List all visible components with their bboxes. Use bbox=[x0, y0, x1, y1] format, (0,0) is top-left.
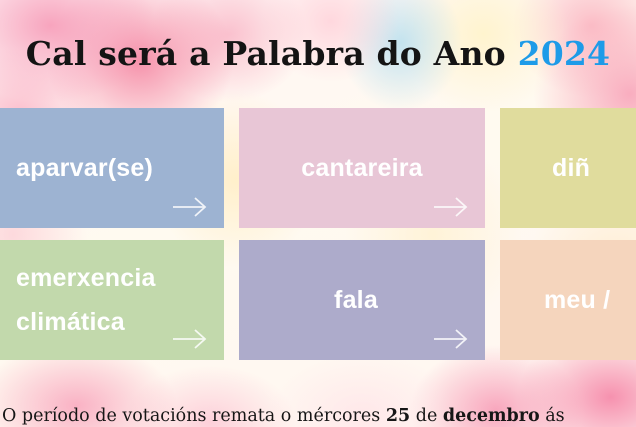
voting-deadline-part2: de bbox=[410, 406, 443, 426]
page-title-text: Cal será a Palabra do Ano bbox=[26, 34, 518, 73]
voting-deadline-part1: O período de votacións remata o mércores bbox=[2, 406, 386, 426]
arrow-right-icon bbox=[170, 326, 210, 352]
word-card-cantareira[interactable]: cantareira bbox=[239, 108, 485, 228]
voting-deadline-month: decembro bbox=[443, 406, 540, 426]
arrow-right-icon bbox=[431, 326, 471, 352]
word-card-grid: aparvar(se) cantareira diñ emerxencia cl… bbox=[0, 108, 636, 360]
voting-deadline-part3: ás bbox=[540, 406, 565, 426]
page-title: Cal será a Palabra do Ano 2024 bbox=[0, 32, 636, 76]
word-card-label: emerxencia climática bbox=[16, 256, 156, 344]
word-card-label: cantareira bbox=[301, 151, 423, 185]
arrow-right-icon bbox=[170, 194, 210, 220]
word-card-din[interactable]: diñ bbox=[500, 108, 636, 228]
word-card-fala[interactable]: fala bbox=[239, 240, 485, 360]
word-card-label: diñ bbox=[552, 151, 590, 185]
word-card-label: aparvar(se) bbox=[16, 151, 153, 185]
word-card-meu[interactable]: meu / bbox=[500, 240, 636, 360]
word-card-aparvarse[interactable]: aparvar(se) bbox=[0, 108, 224, 228]
page-title-year: 2024 bbox=[518, 34, 611, 73]
voting-deadline-day: 25 bbox=[386, 406, 410, 426]
word-card-label: fala bbox=[334, 283, 378, 317]
voting-deadline-note: O período de votacións remata o mércores… bbox=[0, 404, 636, 427]
word-card-label: meu / bbox=[544, 283, 610, 317]
arrow-right-icon bbox=[431, 194, 471, 220]
word-card-emerxencia-climatica[interactable]: emerxencia climática bbox=[0, 240, 224, 360]
